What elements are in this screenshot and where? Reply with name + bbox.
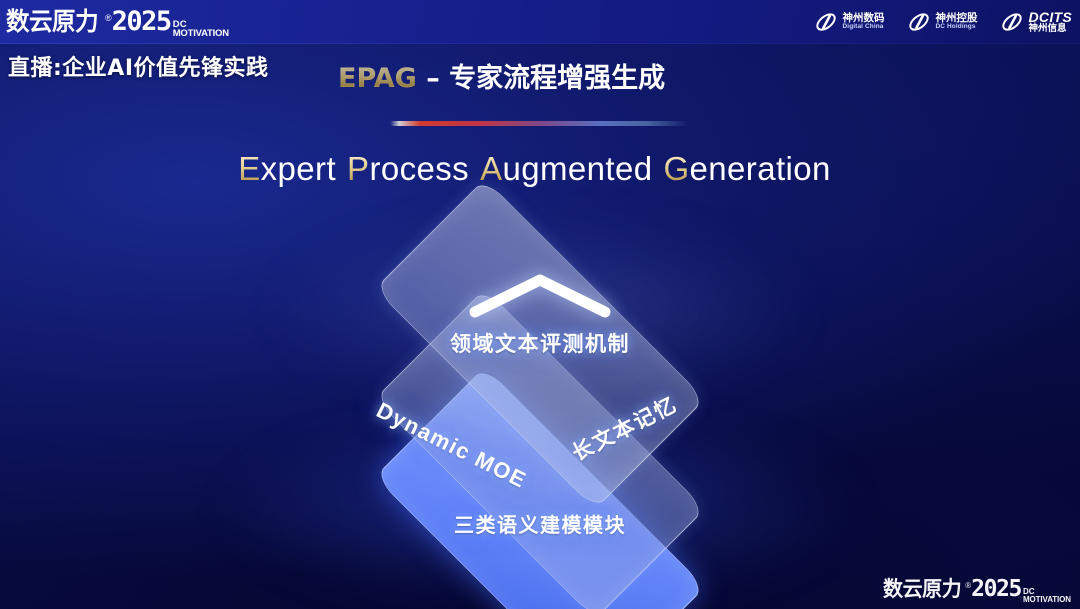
title-expansion: ExpertProcessAugmentedGeneration [0, 150, 1080, 188]
watermark-cn: 数云原力 [883, 573, 961, 603]
expansion-cap-g: G [663, 150, 689, 187]
gradient-divider [390, 121, 690, 126]
partner-logo-dcits: DCITS 神州信息 [1000, 10, 1073, 35]
swirl-logo-icon [1000, 10, 1024, 34]
partner-text: 神州数码 Digital China [843, 13, 885, 31]
header-bar: 数云原力 ® 2025 DC MOTIVATION 神州数码 Digital C… [0, 0, 1080, 44]
watermark-dc-motivation: DC MOTIVATION [1023, 588, 1071, 603]
partner-logo-digital-china: 神州数码 Digital China [814, 10, 885, 34]
expansion-word-generation: Generation [663, 150, 830, 187]
expansion-rest-augmented: ugmented [502, 150, 652, 187]
page-title: EPAG – 专家流程增强生成 [338, 56, 665, 95]
event-logo-dc-line2: MOTIVATION [173, 30, 229, 39]
event-logo: 数云原力 ® 2025 DC MOTIVATION [6, 2, 229, 41]
title-acronym: EPAG [338, 63, 417, 94]
watermark-registered: ® [965, 581, 971, 590]
expansion-word-expert: Expert [238, 150, 336, 187]
event-logo-registered: ® [105, 13, 112, 23]
partner-name-en: Digital China [843, 24, 885, 31]
event-logo-cn: 数云原力 [6, 2, 98, 38]
partner-name-cn: 神州信息 [1029, 24, 1073, 34]
slide-canvas: 数云原力 ® 2025 DC MOTIVATION 神州数码 Digital C… [0, 0, 1080, 609]
expansion-cap-p: P [347, 150, 369, 187]
watermark-year: 2025 [971, 576, 1021, 602]
event-logo-dc-motivation: DC MOTIVATION [173, 21, 229, 38]
title-chinese: – 专家流程增强生成 [417, 63, 665, 94]
watermark-logo: 数云原力 ® 2025 DC MOTIVATION [883, 573, 1071, 605]
layer-stack-diagram: 领域文本评测机制 Dynamic MOE 长文本记忆 三类语义建模模块 [0, 218, 1080, 588]
partner-logo-group: 神州数码 Digital China 神州控股 DC Holdings [814, 6, 1073, 38]
partner-name-en: DC Holdings [936, 24, 978, 31]
expansion-word-augmented: Augmented [480, 150, 652, 187]
event-logo-year: 2025 [112, 6, 171, 37]
expansion-cap-e: E [238, 150, 260, 187]
chevron-up-icon [465, 268, 615, 320]
watermark-dc-line2: MOTIVATION [1023, 596, 1071, 603]
expansion-rest-process: rocess [369, 150, 469, 187]
partner-text: 神州控股 DC Holdings [936, 13, 978, 31]
expansion-rest-expert: xpert [261, 150, 336, 187]
partner-text: DCITS 神州信息 [1029, 10, 1073, 35]
swirl-logo-icon [907, 10, 931, 34]
expansion-cap-a: A [480, 150, 502, 187]
expansion-word-process: Process [347, 150, 469, 187]
partner-logo-dc-holdings: 神州控股 DC Holdings [907, 10, 978, 34]
expansion-rest-generation: eneration [690, 150, 831, 187]
swirl-logo-icon [814, 10, 838, 34]
livestream-subtitle: 直播:企业AI价值先锋实践 [8, 50, 269, 82]
